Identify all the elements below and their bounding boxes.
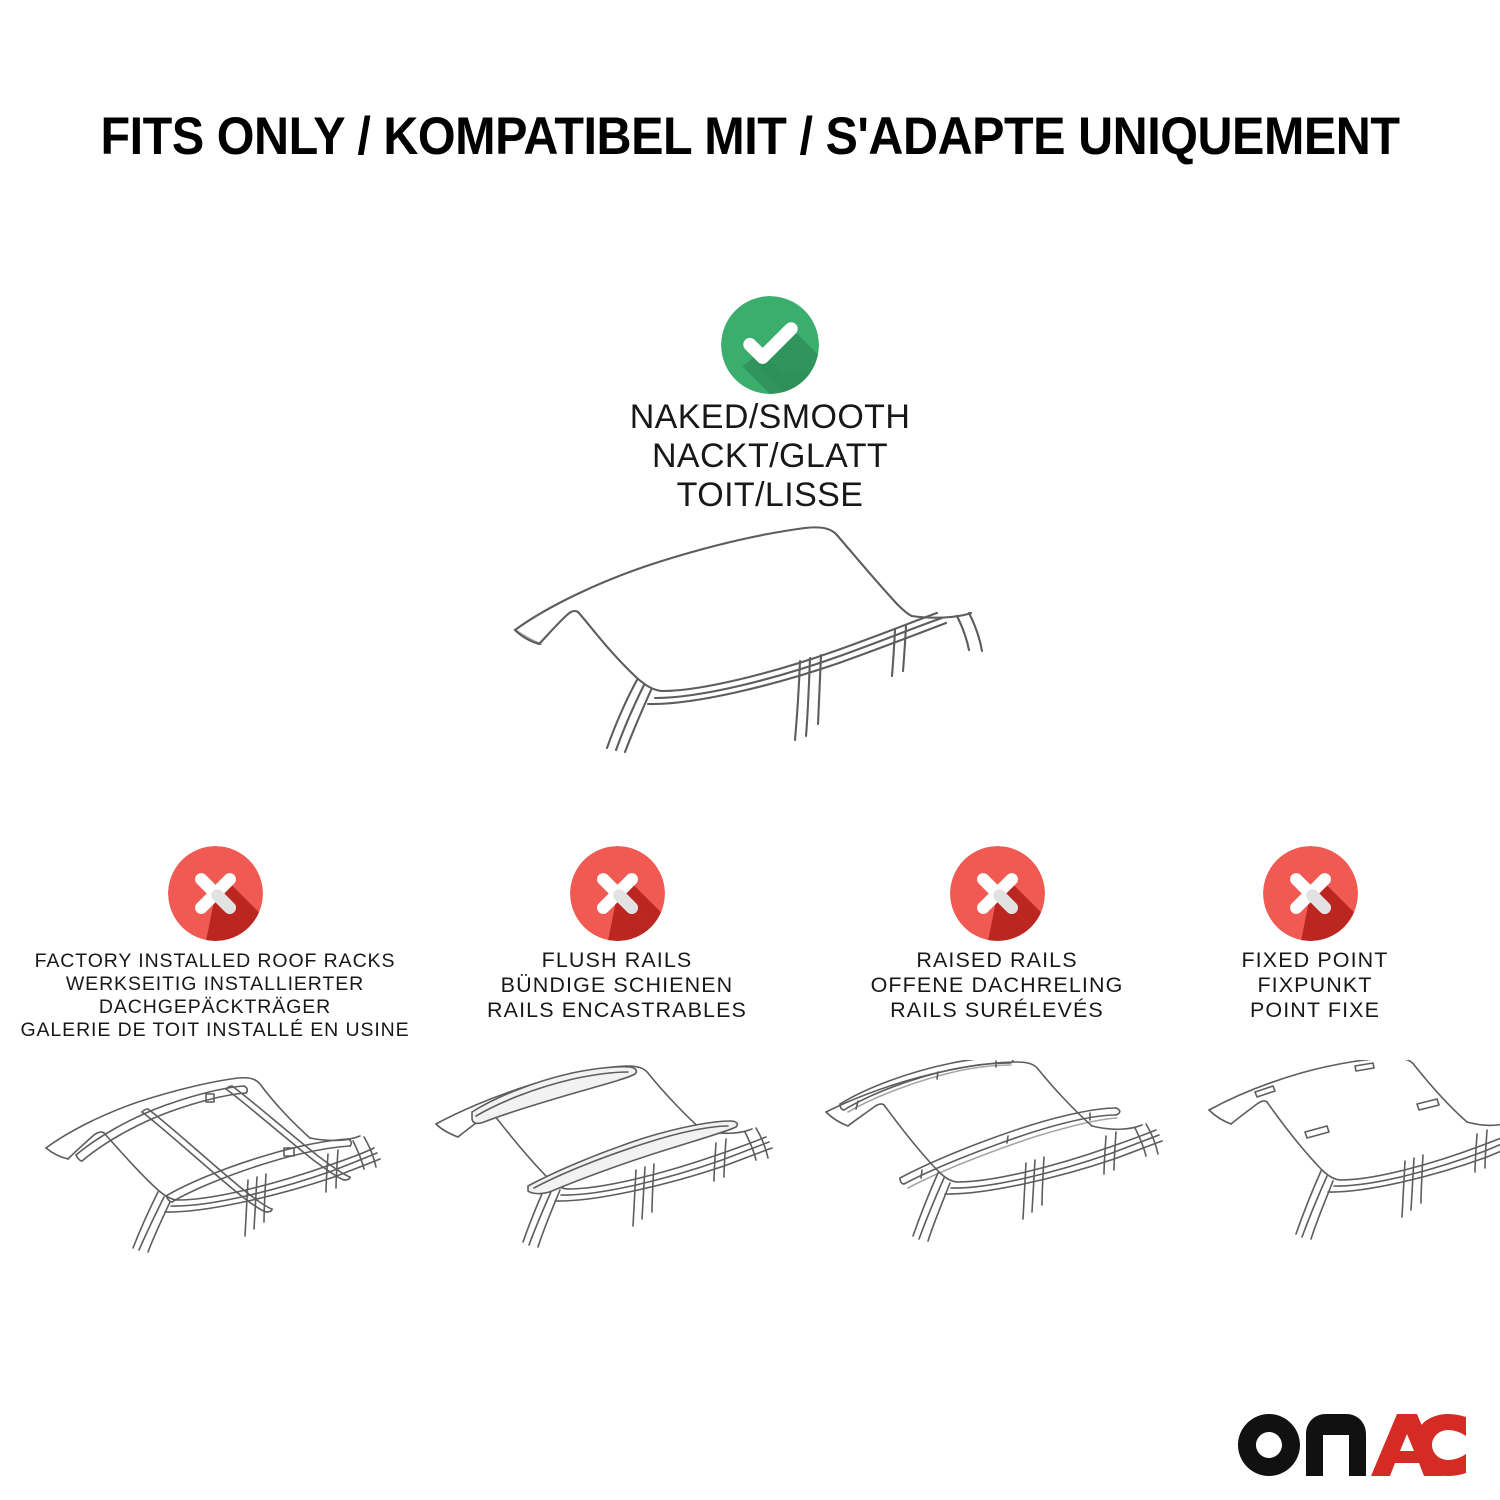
green-check-circle-icon [721,296,819,394]
caption-line: OFFENE DACHRELING [812,973,1182,998]
caption-line: RAILS SURÉLEVÉS [812,998,1182,1023]
fitment-guide-page: FITS ONLY / KOMPATIBEL MIT / S'ADAPTE UN… [0,0,1500,1500]
red-cross-circle-icon [168,846,263,941]
caption-line: FACTORY INSTALLED ROOF RACKS [10,950,420,973]
raised-rails-roof-illustration [818,1060,1198,1275]
caption-line: FIXPUNKT [1170,973,1460,998]
incompatible-caption-raised-rails: RAISED RAILS OFFENE DACHRELING RAILS SUR… [812,948,1182,1023]
page-title: FITS ONLY / KOMPATIBEL MIT / S'ADAPTE UN… [64,106,1437,167]
fixed-point-roof-illustration [1178,1060,1500,1275]
caption-line: RAILS ENCASTRABLES [432,998,802,1023]
logo-letter-o [1238,1414,1300,1476]
caption-line: RAISED RAILS [812,948,1182,973]
caption-line: FIXED POINT [1170,948,1460,973]
caption-line: FLUSH RAILS [432,948,802,973]
omac-logo [1238,1414,1466,1476]
factory-roof-rack-illustration [38,1060,418,1275]
incompatible-caption-factory-roof-racks: FACTORY INSTALLED ROOF RACKS WERKSEITIG … [10,950,420,1042]
caption-line: NAKED/SMOOTH [520,398,1020,437]
logo-letter-m [1306,1414,1366,1476]
caption-line: POINT FIXE [1170,998,1460,1023]
red-cross-circle-icon [950,846,1045,941]
incompatible-caption-fixed-point: FIXED POINT FIXPUNKT POINT FIXE [1170,948,1460,1023]
incompatible-caption-flush-rails: FLUSH RAILS BÜNDIGE SCHIENEN RAILS ENCAS… [432,948,802,1023]
compatible-caption: NAKED/SMOOTH NACKT/GLATT TOIT/LISSE [520,398,1020,515]
caption-line: WERKSEITIG INSTALLIERTER [10,973,420,996]
naked-smooth-roof-illustration [505,512,1015,792]
red-cross-circle-icon [1263,846,1358,941]
caption-line: DACHGEPÄCKTRÄGER [10,996,420,1019]
flush-rails-roof-illustration [428,1060,808,1275]
red-cross-circle-icon [570,846,665,941]
caption-line: NACKT/GLATT [520,437,1020,476]
caption-line: BÜNDIGE SCHIENEN [432,973,802,998]
caption-line: TOIT/LISSE [520,476,1020,515]
caption-line: GALERIE DE TOIT INSTALLÉ EN USINE [10,1019,420,1042]
